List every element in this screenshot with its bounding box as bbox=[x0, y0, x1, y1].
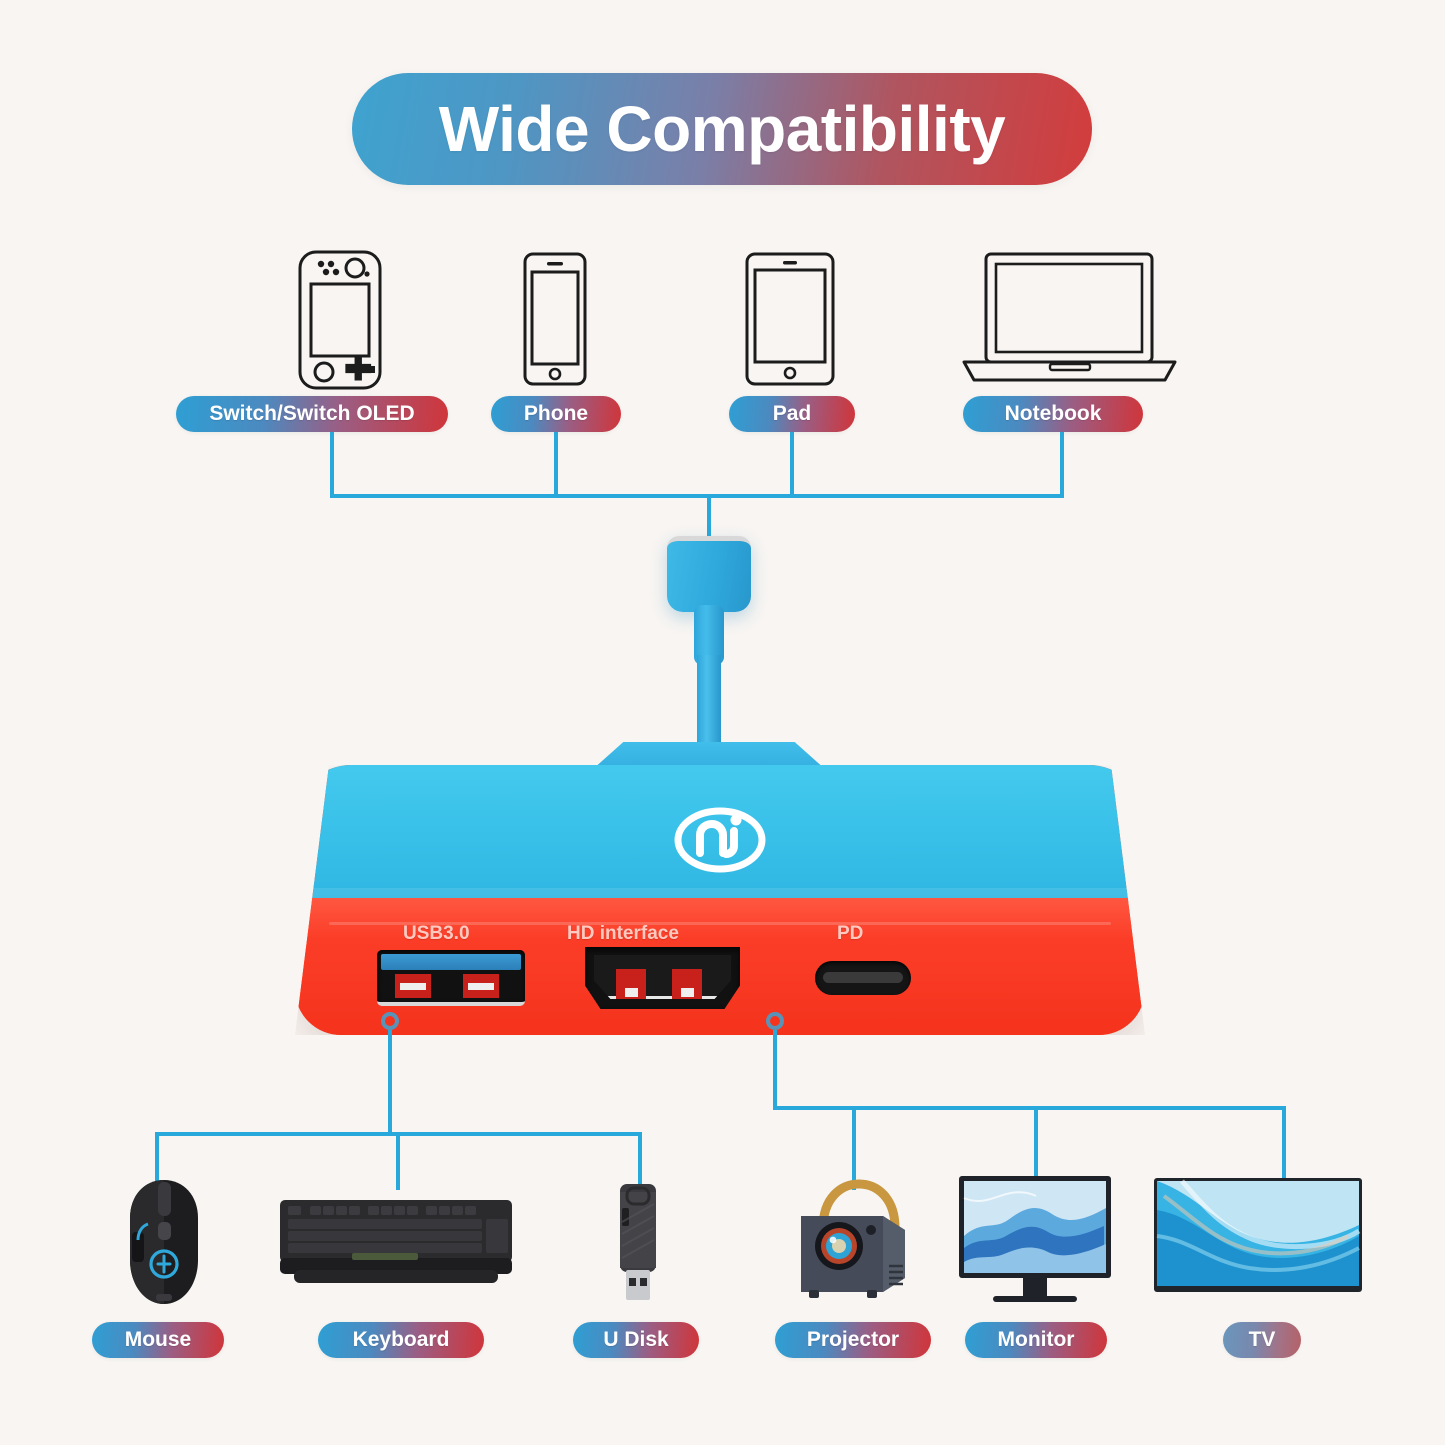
output-label-keyboard-text: Keyboard bbox=[353, 1328, 450, 1352]
usb-a-port bbox=[377, 950, 525, 1006]
tablet-icon bbox=[745, 252, 835, 386]
monitor-icon bbox=[957, 1174, 1113, 1307]
smartphone-icon bbox=[523, 252, 587, 386]
connector-switch bbox=[330, 432, 334, 498]
connector-tv bbox=[1282, 1106, 1286, 1178]
usb-c-pd-port bbox=[815, 961, 911, 995]
hdmi-port bbox=[585, 947, 740, 1009]
laptop-icon bbox=[962, 252, 1177, 384]
source-label-phone-text: Phone bbox=[524, 402, 588, 426]
output-label-monitor[interactable]: Monitor bbox=[965, 1322, 1107, 1358]
output-label-tv[interactable]: TV bbox=[1223, 1322, 1301, 1358]
connector-pad bbox=[790, 432, 794, 498]
connector-hd-stem bbox=[773, 1030, 777, 1108]
game-console-icon bbox=[298, 250, 382, 390]
source-label-pad-text: Pad bbox=[773, 402, 812, 426]
source-label-switch[interactable]: Switch/Switch OLED bbox=[176, 396, 448, 432]
source-label-phone[interactable]: Phone bbox=[491, 396, 621, 432]
source-label-switch-text: Switch/Switch OLED bbox=[209, 402, 414, 426]
connector-keyboard bbox=[396, 1132, 400, 1190]
output-label-projector[interactable]: Projector bbox=[775, 1322, 931, 1358]
connector-endpoint-usb3 bbox=[381, 1012, 399, 1030]
connector-top-bus bbox=[330, 494, 1064, 498]
output-label-keyboard[interactable]: Keyboard bbox=[318, 1322, 484, 1358]
port-label-hd: HD interface bbox=[567, 923, 679, 945]
connector-monitor bbox=[1034, 1106, 1038, 1184]
source-label-notebook-text: Notebook bbox=[1005, 402, 1102, 426]
projector-icon bbox=[793, 1172, 917, 1305]
output-label-projector-text: Projector bbox=[807, 1328, 899, 1352]
tv-icon bbox=[1152, 1176, 1364, 1305]
output-label-udisk[interactable]: U Disk bbox=[573, 1322, 699, 1358]
keyboard-icon bbox=[278, 1196, 514, 1299]
connector-hd-bus bbox=[773, 1106, 1286, 1110]
title-banner: Wide Compatibility bbox=[352, 73, 1092, 185]
output-label-monitor-text: Monitor bbox=[998, 1328, 1075, 1352]
connector-usb-stem bbox=[388, 1030, 392, 1134]
port-label-usb3: USB3.0 bbox=[403, 923, 470, 945]
connector-endpoint-hd bbox=[766, 1012, 784, 1030]
output-label-tv-text: TV bbox=[1249, 1328, 1276, 1352]
usb-hub-device: USB3.0 HD interface PD bbox=[295, 765, 1145, 1035]
usb-flash-drive-icon bbox=[610, 1182, 666, 1309]
usb-c-plug bbox=[667, 536, 751, 612]
output-label-mouse[interactable]: Mouse bbox=[92, 1322, 224, 1358]
output-label-udisk-text: U Disk bbox=[603, 1328, 668, 1352]
port-label-pd: PD bbox=[837, 923, 863, 945]
connector-notebook bbox=[1060, 432, 1064, 498]
mouse-icon bbox=[118, 1178, 210, 1311]
output-label-mouse-text: Mouse bbox=[125, 1328, 192, 1352]
source-label-pad[interactable]: Pad bbox=[729, 396, 855, 432]
infographic-canvas: Wide Compatibility bbox=[0, 0, 1445, 1445]
ni-logo bbox=[674, 807, 766, 873]
connector-phone bbox=[554, 432, 558, 498]
source-label-notebook[interactable]: Notebook bbox=[963, 396, 1143, 432]
page-title: Wide Compatibility bbox=[439, 92, 1005, 166]
